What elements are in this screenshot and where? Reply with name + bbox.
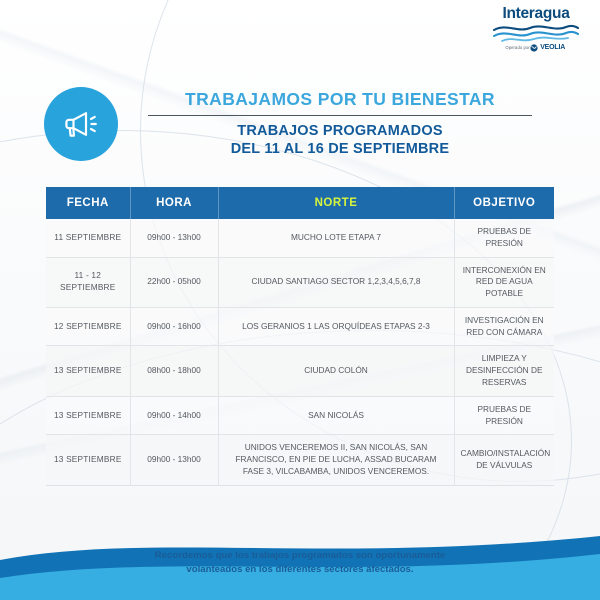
cell-hora: 09h00 - 16h00 — [130, 307, 218, 346]
schedule-table-container: FECHA HORA NORTE OBJETIVO 11 SEPTIEMBRE0… — [46, 187, 554, 486]
column-header-objetivo: OBJETIVO — [454, 187, 554, 219]
cell-fecha: 11 SEPTIEMBRE — [46, 219, 130, 257]
cell-objetivo: LIMPIEZA Y DESINFECCIÓN DE RESERVAS — [454, 346, 554, 396]
column-header-fecha: FECHA — [46, 187, 130, 219]
cell-objetivo: CAMBIO/INSTALACIÓN DE VÁLVULAS — [454, 435, 554, 485]
table-row: 13 SEPTIEMBRE08h00 - 18h00CIUDAD COLÓNLI… — [46, 346, 554, 396]
table-row: 11 SEPTIEMBRE09h00 - 13h00MUCHO LOTE ETA… — [46, 219, 554, 257]
cell-fecha: 13 SEPTIEMBRE — [46, 346, 130, 396]
column-header-hora: HORA — [130, 187, 218, 219]
cell-hora: 09h00 - 13h00 — [130, 435, 218, 485]
brand-name: Interagua — [484, 6, 588, 22]
table-body: 11 SEPTIEMBRE09h00 - 13h00MUCHO LOTE ETA… — [46, 219, 554, 485]
header-banner: TRABAJAMOS POR TU BIENESTAR TRABAJOS PRO… — [44, 80, 556, 168]
footer-note: Recordemos que los trabajos programados … — [0, 549, 600, 578]
cell-fecha: 13 SEPTIEMBRE — [46, 396, 130, 435]
banner-subtitle-line2: DEL 11 AL 16 DE SEPTIEMBRE — [130, 140, 550, 159]
cell-objetivo: PRUEBAS DE PRESIÓN — [454, 396, 554, 435]
banner-divider — [148, 115, 532, 116]
megaphone-icon — [61, 104, 101, 144]
banner-subtitle-line1: TRABAJOS PROGRAMADOS — [130, 122, 550, 141]
cell-norte: MUCHO LOTE ETAPA 7 — [218, 219, 454, 257]
cell-objetivo: PRUEBAS DE PRESIÓN — [454, 219, 554, 257]
cell-hora: 08h00 - 18h00 — [130, 346, 218, 396]
banner-text-block: TRABAJAMOS POR TU BIENESTAR TRABAJOS PRO… — [118, 89, 556, 158]
announcement-poster: Interagua Operado por VEOLIA — [0, 0, 600, 600]
footer-note-line2: volanteados en los diferentes sectores a… — [90, 563, 510, 577]
cell-fecha: 11 - 12 SEPTIEMBRE — [46, 257, 130, 307]
schedule-table: FECHA HORA NORTE OBJETIVO 11 SEPTIEMBRE0… — [46, 187, 554, 486]
veolia-byline: Operado por VEOLIA — [484, 44, 588, 52]
cell-norte: CIUDAD COLÓN — [218, 346, 454, 396]
interagua-logo: Interagua Operado por VEOLIA — [484, 6, 588, 52]
cell-hora: 22h00 - 05h00 — [130, 257, 218, 307]
banner-title: TRABAJAMOS POR TU BIENESTAR — [130, 89, 550, 109]
footer-note-line1: Recordemos que los trabajos programados … — [90, 549, 510, 563]
table-row: 11 - 12 SEPTIEMBRE22h00 - 05h00CIUDAD SA… — [46, 257, 554, 307]
megaphone-badge — [44, 87, 118, 161]
cell-objetivo: INVESTIGACIÓN EN RED CON CÁMARA — [454, 307, 554, 346]
cell-norte: SAN NICOLÁS — [218, 396, 454, 435]
table-row: 13 SEPTIEMBRE09h00 - 13h00UNIDOS VENCERE… — [46, 435, 554, 485]
cell-norte: LOS GERANIOS 1 LAS ORQUÍDEAS ETAPAS 2-3 — [218, 307, 454, 346]
cell-fecha: 12 SEPTIEMBRE — [46, 307, 130, 346]
table-header-row: FECHA HORA NORTE OBJETIVO — [46, 187, 554, 219]
operated-by-label: Operado por — [505, 45, 529, 50]
veolia-label: VEOLIA — [540, 44, 565, 51]
cell-norte: CIUDAD SANTIAGO SECTOR 1,2,3,4,5,6,7,8 — [218, 257, 454, 307]
veolia-mark-icon — [530, 44, 538, 52]
water-waves-icon — [492, 24, 580, 43]
cell-hora: 09h00 - 13h00 — [130, 219, 218, 257]
table-head: FECHA HORA NORTE OBJETIVO — [46, 187, 554, 219]
table-row: 13 SEPTIEMBRE09h00 - 14h00SAN NICOLÁSPRU… — [46, 396, 554, 435]
cell-objetivo: INTERCONEXIÓN EN RED DE AGUA POTABLE — [454, 257, 554, 307]
table-row: 12 SEPTIEMBRE09h00 - 16h00LOS GERANIOS 1… — [46, 307, 554, 346]
column-header-norte: NORTE — [218, 187, 454, 219]
cell-norte: UNIDOS VENCEREMOS II, SAN NICOLÁS, SAN F… — [218, 435, 454, 485]
cell-hora: 09h00 - 14h00 — [130, 396, 218, 435]
cell-fecha: 13 SEPTIEMBRE — [46, 435, 130, 485]
